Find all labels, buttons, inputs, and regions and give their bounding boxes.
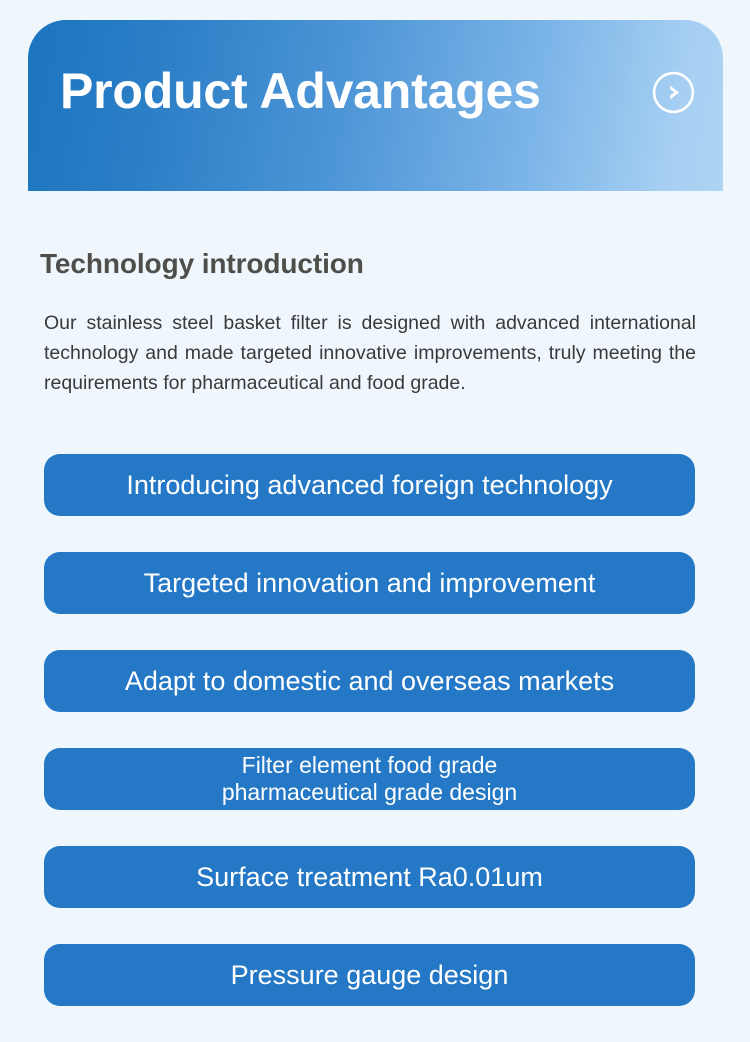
chevron-right-circle-icon[interactable] [652,71,695,114]
section-heading-technology-introduction: Technology introduction [40,248,364,280]
page-title: Product Advantages [60,66,541,116]
advantage-pill-1[interactable]: Introducing advanced foreign technology [44,454,695,516]
advantage-pill-4[interactable]: Filter element food grade pharmaceutical… [44,748,695,810]
product-advantages-banner: Product Advantages [28,20,723,191]
advantage-pill-3[interactable]: Adapt to domestic and overseas markets [44,650,695,712]
advantage-pill-5[interactable]: Surface treatment Ra0.01um [44,846,695,908]
advantages-list: Introducing advanced foreign technology … [44,454,695,1042]
advantage-pill-6[interactable]: Pressure gauge design [44,944,695,1006]
product-advantages-page: Product Advantages Technology introducti… [0,0,750,1039]
technology-introduction-paragraph: Our stainless steel basket filter is des… [44,308,696,398]
advantage-pill-2[interactable]: Targeted innovation and improvement [44,552,695,614]
